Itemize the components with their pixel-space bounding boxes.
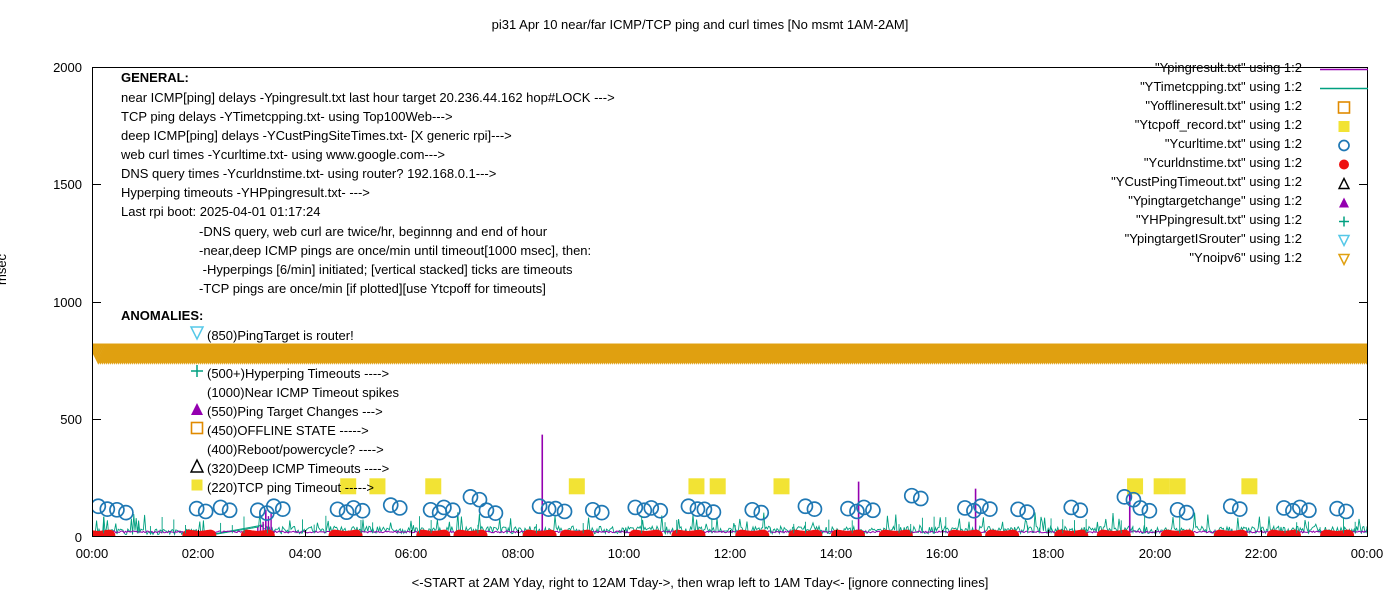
x-tick-mark — [1048, 530, 1049, 537]
x-tick-mark — [836, 530, 837, 537]
legend-row[interactable]: "YTimetcpping.txt" using 1:2 — [1010, 79, 1380, 98]
x-tick-1: 02:00 — [168, 546, 228, 561]
general-line-3: deep ICMP[ping] delays -YCustPingSiteTim… — [121, 126, 512, 145]
legend-row[interactable]: "Ynoipv6" using 1:2 — [1010, 250, 1380, 269]
legend-key-line — [1308, 60, 1380, 79]
legend-label: "Ypingtargetchange" using 1:2 — [1128, 193, 1302, 208]
general-note-1: -DNS query, web curl are twice/hr, begin… — [199, 222, 547, 241]
legend-label: "Ycurldnstime.txt" using 1:2 — [1144, 155, 1302, 170]
x-tick-mark — [518, 530, 519, 537]
legend-key-tri-up-open — [1308, 174, 1380, 193]
x-tick-mark — [411, 530, 412, 537]
y-tick-2000: 2000 — [32, 60, 82, 75]
anomaly-label-2: (725)ipv6 failure! — [207, 345, 304, 364]
anomalies-heading: ANOMALIES: — [121, 306, 203, 325]
legend-row[interactable]: "Ypingresult.txt" using 1:2 — [1010, 60, 1380, 79]
y-tick-0: 0 — [32, 530, 82, 545]
general-line-7: Last rpi boot: 2025-04-01 01:17:24 — [121, 202, 320, 221]
legend-label: "Yofflineresult.txt" using 1:2 — [1145, 98, 1302, 113]
x-tick-7: 14:00 — [806, 546, 866, 561]
x-tick-4: 08:00 — [488, 546, 548, 561]
general-note-2: -near,deep ICMP pings are once/min until… — [199, 241, 591, 260]
x-tick-5: 10:00 — [594, 546, 654, 561]
general-line-2: TCP ping delays -YTimetcpping.txt- using… — [121, 107, 453, 126]
anomaly-label-3: (500+)Hyperping Timeouts ----> — [207, 364, 389, 383]
legend-row[interactable]: "YpingtargetISrouter" using 1:2 — [1010, 231, 1380, 250]
legend-row[interactable]: "YCustPingTimeout.txt" using 1:2 — [1010, 174, 1380, 193]
legend-label: "YpingtargetISrouter" using 1:2 — [1125, 231, 1302, 246]
legend-key-circle-open — [1308, 136, 1380, 155]
anomaly-label-8: (320)Deep ICMP Timeouts ----> — [207, 459, 389, 478]
x-tick-9: 18:00 — [1018, 546, 1078, 561]
legend-key-line — [1308, 79, 1380, 98]
legend-key-tri-down-open — [1308, 231, 1380, 250]
x-tick-8: 16:00 — [912, 546, 972, 561]
general-note-4: -TCP pings are once/min [if plotted][use… — [199, 279, 546, 298]
x-tick-mark — [624, 530, 625, 537]
general-line-5: DNS query times -Ycurldnstime.txt- using… — [121, 164, 496, 183]
anomaly-label-1: (850)PingTarget is router! — [207, 326, 354, 345]
x-tick-mark — [305, 530, 306, 537]
x-tick-3: 06:00 — [381, 546, 441, 561]
legend-label: "Ynoipv6" using 1:2 — [1189, 250, 1302, 265]
general-heading: GENERAL: — [121, 68, 189, 87]
x-tick-mark — [730, 530, 731, 537]
x-tick-mark — [1155, 530, 1156, 537]
x-tick-11: 22:00 — [1231, 546, 1291, 561]
anomaly-label-4: (1000)Near ICMP Timeout spikes — [207, 383, 399, 402]
legend-key-tri-down-open — [1308, 250, 1380, 269]
anomaly-label-7: (400)Reboot/powercycle? ----> — [207, 440, 384, 459]
y-tick-500: 500 — [32, 412, 82, 427]
legend-row[interactable]: "Yofflineresult.txt" using 1:2 — [1010, 98, 1380, 117]
general-line-1: near ICMP[ping] delays -Ypingresult.txt … — [121, 88, 615, 107]
chart-page: pi31 Apr 10 near/far ICMP/TCP ping and c… — [0, 0, 1400, 600]
legend-key-circle-filled — [1308, 155, 1380, 174]
page-title: pi31 Apr 10 near/far ICMP/TCP ping and c… — [0, 17, 1400, 32]
legend: "Ypingresult.txt" using 1:2"YTimetcpping… — [1010, 60, 1380, 269]
legend-row[interactable]: "Ycurldnstime.txt" using 1:2 — [1010, 155, 1380, 174]
legend-key-tri-up-filled — [1308, 193, 1380, 212]
legend-row[interactable]: "YHPpingresult.txt" using 1:2 — [1010, 212, 1380, 231]
legend-key-plus — [1308, 212, 1380, 231]
x-tick-mark — [92, 530, 93, 537]
x-tick-12: 00:00 — [1337, 546, 1397, 561]
legend-label: "Ytcpoff_record.txt" using 1:2 — [1135, 117, 1302, 132]
y-tick-1000: 1000 — [32, 295, 82, 310]
anomaly-label-5: (550)Ping Target Changes ---> — [207, 402, 383, 421]
anomaly-label-9: (220)TCP ping Timeout -----> — [207, 478, 374, 497]
general-line-6: Hyperping timeouts -YHPpingresult.txt- -… — [121, 183, 370, 202]
legend-label: "YTimetcpping.txt" using 1:2 — [1140, 79, 1302, 94]
legend-key-square-filled — [1308, 117, 1380, 136]
anomaly-label-6: (450)OFFLINE STATE -----> — [207, 421, 369, 440]
y-axis-label: msec — [0, 254, 9, 285]
x-tick-10: 20:00 — [1125, 546, 1185, 561]
legend-row[interactable]: "Ytcpoff_record.txt" using 1:2 — [1010, 117, 1380, 136]
legend-label: "YCustPingTimeout.txt" using 1:2 — [1111, 174, 1302, 189]
x-axis-caption: <-START at 2AM Yday, right to 12AM Tday-… — [0, 575, 1400, 590]
y-tick-1500: 1500 — [32, 177, 82, 192]
legend-key-square-open — [1308, 98, 1380, 117]
legend-label: "Ypingresult.txt" using 1:2 — [1155, 60, 1302, 75]
legend-row[interactable]: "Ycurltime.txt" using 1:2 — [1010, 136, 1380, 155]
x-tick-mark — [1367, 530, 1368, 537]
x-tick-6: 12:00 — [700, 546, 760, 561]
x-tick-mark — [1261, 530, 1262, 537]
legend-label: "YHPpingresult.txt" using 1:2 — [1136, 212, 1302, 227]
x-tick-mark — [198, 530, 199, 537]
general-note-3: -Hyperpings [6/min] initiated; [vertical… — [199, 260, 573, 279]
x-tick-0: 00:00 — [62, 546, 122, 561]
x-tick-mark — [942, 530, 943, 537]
legend-label: "Ycurltime.txt" using 1:2 — [1165, 136, 1302, 151]
x-tick-2: 04:00 — [275, 546, 335, 561]
legend-row[interactable]: "Ypingtargetchange" using 1:2 — [1010, 193, 1380, 212]
general-line-4: web curl times -Ycurltime.txt- using www… — [121, 145, 445, 164]
